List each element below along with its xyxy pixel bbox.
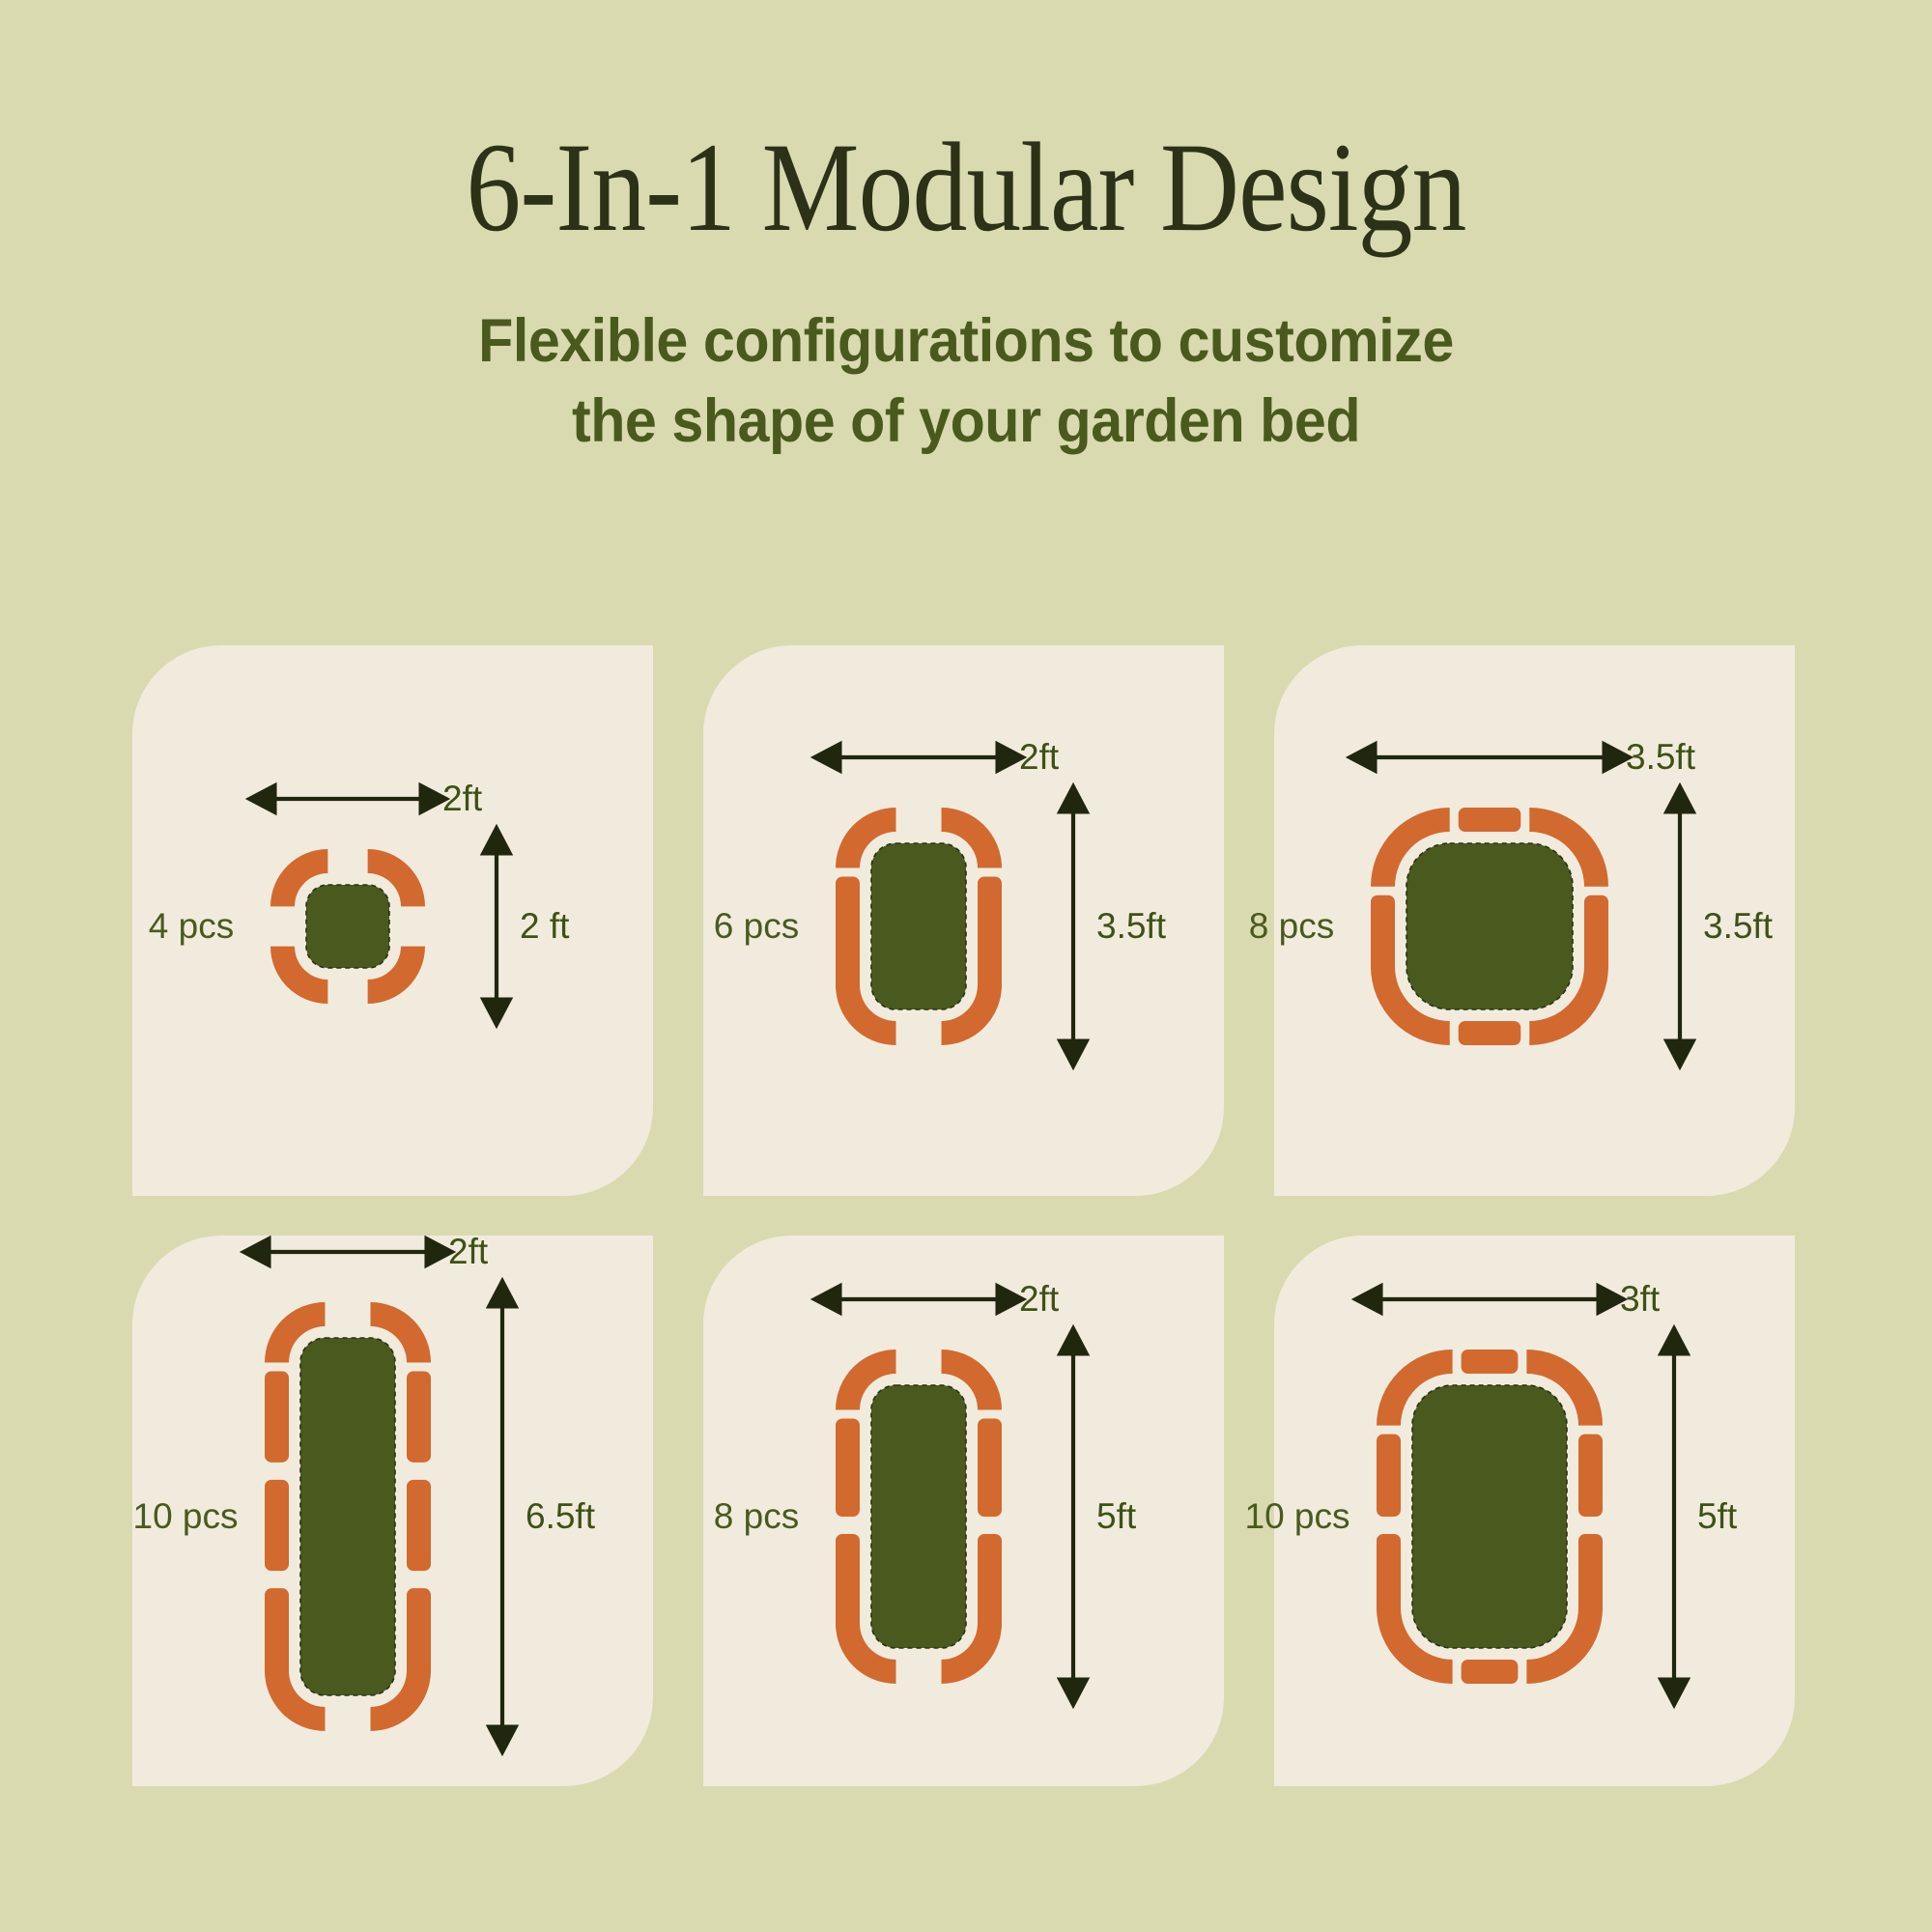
side-panel-right bbox=[407, 1371, 431, 1462]
config-card-config-10pcs-wide[interactable]: 10 pcs3ft5ft bbox=[1274, 1236, 1795, 1786]
side-panel-left bbox=[836, 1418, 860, 1517]
bottom-panel bbox=[1459, 1021, 1521, 1045]
garden-bed-area bbox=[871, 1385, 966, 1648]
height-dimension-label: 2 ft bbox=[520, 906, 569, 947]
pieces-count-label: 10 pcs bbox=[1244, 1496, 1350, 1537]
height-dimension-label: 5ft bbox=[1096, 1496, 1136, 1537]
side-panel-left bbox=[1377, 1534, 1401, 1616]
width-dimension-label: 2ft bbox=[1019, 1279, 1059, 1320]
pieces-count-label: 8 pcs bbox=[1249, 906, 1334, 947]
pieces-count-label: 8 pcs bbox=[714, 1496, 799, 1537]
config-card-config-6pcs[interactable]: 6 pcs2ft3.5ft bbox=[703, 645, 1224, 1196]
width-dimension-label: 2ft bbox=[442, 779, 482, 819]
width-dimension-label: 3.5ft bbox=[1626, 737, 1695, 778]
side-panel-left bbox=[1371, 895, 1395, 976]
side-panel-right bbox=[1578, 1534, 1603, 1616]
pieces-count-label: 6 pcs bbox=[714, 906, 799, 947]
configuration-grid: 4 pcs2ft2 ft6 pcs2ft3.5ft8 pcs3.5ft3.5ft… bbox=[132, 645, 1794, 1785]
garden-bed-area bbox=[1406, 843, 1573, 1009]
height-dimension-label: 3.5ft bbox=[1703, 906, 1773, 947]
config-card-config-8pcs-square[interactable]: 8 pcs3.5ft3.5ft bbox=[1274, 645, 1795, 1196]
side-panel-left bbox=[265, 1588, 289, 1679]
subtitle-line-2: the shape of your garden bed bbox=[58, 382, 1874, 462]
top-panel bbox=[1462, 1350, 1519, 1374]
pieces-count-label: 10 pcs bbox=[132, 1496, 238, 1537]
side-panel-right bbox=[1578, 1435, 1603, 1517]
side-panel-right bbox=[407, 1588, 431, 1679]
width-dimension-label: 3ft bbox=[1620, 1279, 1660, 1320]
side-panel-right bbox=[978, 1418, 1002, 1517]
pieces-count-label: 4 pcs bbox=[149, 906, 234, 947]
side-panel-right bbox=[1584, 895, 1608, 976]
subtitle-line-1: Flexible configurations to customize bbox=[58, 301, 1874, 382]
height-dimension-label: 5ft bbox=[1697, 1496, 1737, 1537]
height-dimension-label: 3.5ft bbox=[1096, 906, 1166, 947]
side-panel-right bbox=[407, 1480, 431, 1571]
side-panel-left bbox=[265, 1480, 289, 1571]
garden-bed-area bbox=[871, 843, 966, 1009]
height-dimension-label: 6.5ft bbox=[526, 1496, 595, 1537]
config-card-config-8pcs-tall[interactable]: 8 pcs2ft5ft bbox=[703, 1236, 1224, 1786]
side-panel-left bbox=[836, 876, 860, 993]
header: 6-In-1 Modular Design Flexible configura… bbox=[0, 0, 1932, 462]
side-panel-left bbox=[265, 1371, 289, 1462]
bottom-panel bbox=[1462, 1660, 1519, 1684]
config-card-config-10pcs-long[interactable]: 10 pcs2ft6.5ft bbox=[132, 1236, 653, 1786]
garden-bed-area bbox=[1412, 1385, 1567, 1648]
infographic-page: 6-In-1 Modular Design Flexible configura… bbox=[0, 0, 1932, 1932]
garden-bed-area bbox=[306, 885, 389, 968]
garden-bed-area bbox=[300, 1338, 395, 1695]
width-dimension-label: 2ft bbox=[1019, 737, 1059, 778]
page-subtitle: Flexible configurations to customize the… bbox=[58, 251, 1874, 462]
side-panel-left bbox=[836, 1534, 860, 1633]
side-panel-right bbox=[978, 1534, 1002, 1633]
side-panel-right bbox=[978, 876, 1002, 993]
width-dimension-label: 2ft bbox=[448, 1232, 488, 1272]
config-card-config-4pcs[interactable]: 4 pcs2ft2 ft bbox=[132, 645, 653, 1196]
page-title: 6-In-1 Modular Design bbox=[135, 0, 1797, 251]
side-panel-left bbox=[1377, 1435, 1401, 1517]
top-panel bbox=[1459, 808, 1521, 832]
